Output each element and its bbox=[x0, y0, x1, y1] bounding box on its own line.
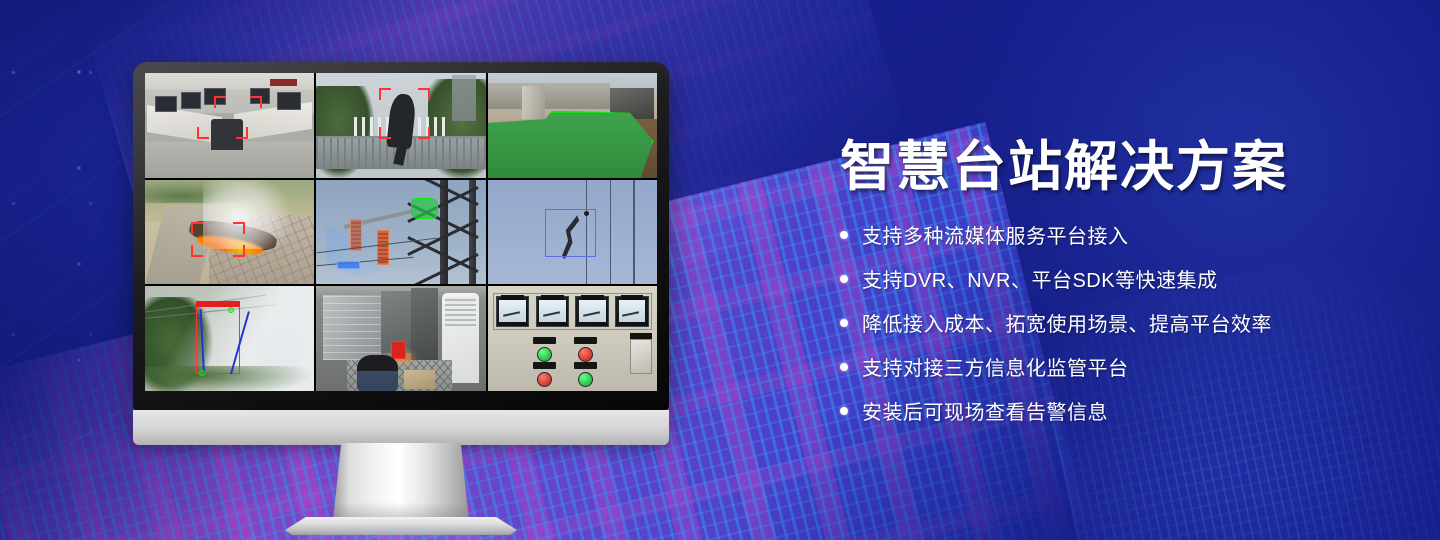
panel-gauge-face bbox=[499, 300, 526, 322]
panel-indicator-1 bbox=[533, 337, 556, 362]
fence-building bbox=[452, 75, 476, 121]
video-cell-person-climbing-fence bbox=[316, 73, 485, 178]
video-cell-equipment-room bbox=[316, 286, 485, 391]
fire-smoke bbox=[203, 180, 291, 249]
room-ac-vent bbox=[445, 297, 475, 326]
detection-bracket-icon bbox=[233, 245, 245, 257]
feature-item: 安装后可现场查看告警信息 bbox=[840, 396, 1400, 425]
feature-item: 支持对接三方信息化监管平台 bbox=[840, 352, 1400, 381]
detection-bracket-icon bbox=[214, 96, 226, 108]
panel-indicator-lamp-red bbox=[537, 372, 552, 387]
banner-content: 智慧台站解决方案 支持多种流媒体服务平台接入 支持DVR、NVR、平台SDK等快… bbox=[840, 136, 1400, 440]
pole-detection-label bbox=[196, 301, 240, 307]
bullet-dot-icon bbox=[840, 319, 848, 327]
office-monitor-2 bbox=[181, 92, 201, 109]
detection-bracket-icon bbox=[418, 88, 430, 100]
panel-gauge-2 bbox=[536, 296, 570, 328]
detection-bracket-icon bbox=[197, 127, 209, 139]
monitor-chin bbox=[133, 410, 669, 445]
bullet-dot-icon bbox=[840, 231, 848, 239]
video-cell-straw-fire bbox=[145, 180, 314, 285]
video-wall-grid bbox=[145, 73, 657, 391]
video-cell-utility-pole-detect bbox=[145, 286, 314, 391]
detection-bracket-icon bbox=[379, 88, 391, 100]
monitor-screen bbox=[145, 73, 657, 391]
panel-indicator-lamp-green bbox=[578, 372, 593, 387]
panel-gauge-face bbox=[539, 300, 566, 322]
tower-light-beam bbox=[326, 226, 417, 278]
feature-item: 支持DVR、NVR、平台SDK等快速集成 bbox=[840, 264, 1400, 293]
object-detection-box bbox=[545, 209, 596, 257]
zone-pillar bbox=[522, 86, 546, 119]
panel-indicator-3 bbox=[533, 362, 556, 387]
detection-bracket-icon bbox=[191, 222, 203, 234]
panel-gauge-needle bbox=[503, 312, 520, 317]
panel-indicator-label bbox=[574, 337, 597, 344]
bullet-dot-icon bbox=[840, 275, 848, 283]
room-person bbox=[357, 355, 398, 391]
zone-wall bbox=[488, 83, 610, 108]
video-cell-control-panel bbox=[488, 286, 657, 391]
bullet-dot-icon bbox=[840, 363, 848, 371]
bullet-dot-icon bbox=[840, 407, 848, 415]
panel-gauge-label bbox=[541, 295, 564, 300]
zone-green-mask-overlay bbox=[488, 111, 654, 178]
panel-indicator-lamp-green bbox=[537, 347, 552, 362]
panel-gauge-3 bbox=[575, 296, 609, 328]
banner-root: 智慧台站解决方案 支持多种流媒体服务平台接入 支持DVR、NVR、平台SDK等快… bbox=[0, 0, 1440, 540]
detection-bracket-icon bbox=[379, 127, 391, 139]
detection-bracket-icon bbox=[418, 127, 430, 139]
panel-gauge-face bbox=[619, 300, 646, 322]
panel-gauge-face bbox=[579, 300, 606, 322]
panel-indicator-2 bbox=[574, 337, 597, 362]
panel-gauge-1 bbox=[496, 296, 530, 328]
detection-bracket-icon bbox=[233, 222, 245, 234]
feature-item: 降低接入成本、拓宽使用场景、提高平台效率 bbox=[840, 308, 1400, 337]
feature-item-label: 降低接入成本、拓宽使用场景、提高平台效率 bbox=[862, 308, 1272, 337]
panel-wall-phone bbox=[630, 339, 652, 375]
monitor-bezel bbox=[133, 62, 669, 410]
room-carton bbox=[404, 370, 434, 389]
panel-indicator-label bbox=[574, 362, 597, 369]
room-rack-left bbox=[323, 295, 381, 360]
panel-indicator-label bbox=[533, 337, 556, 344]
detection-bracket-icon bbox=[250, 96, 262, 108]
panel-gauge-label bbox=[501, 295, 524, 300]
video-cell-power-line-object bbox=[488, 180, 657, 285]
tower-blue-tag-overlay bbox=[337, 261, 361, 268]
panel-gauge-needle bbox=[543, 312, 560, 317]
video-cell-green-zone-mask bbox=[488, 73, 657, 178]
monitor-illustration bbox=[133, 62, 669, 412]
office-red-banner bbox=[270, 79, 297, 85]
panel-indicator-lamp-red bbox=[578, 347, 593, 362]
panel-gauge-label bbox=[581, 295, 604, 300]
panel-indicator-label bbox=[533, 362, 556, 369]
detection-bracket-icon bbox=[191, 245, 203, 257]
video-cell-transmission-tower bbox=[316, 180, 485, 285]
panel-gauge-label bbox=[621, 295, 644, 300]
feature-item-label: 支持DVR、NVR、平台SDK等快速集成 bbox=[862, 264, 1218, 293]
room-fire-detection-box bbox=[391, 341, 406, 359]
panel-gauge-needle bbox=[622, 312, 639, 317]
video-cell-office-control-room bbox=[145, 73, 314, 178]
banner-title: 智慧台站解决方案 bbox=[840, 136, 1400, 198]
office-monitor-5 bbox=[277, 92, 301, 110]
panel-indicator-area bbox=[532, 337, 613, 385]
feature-item-label: 支持多种流媒体服务平台接入 bbox=[862, 220, 1129, 249]
panel-indicator-4 bbox=[574, 362, 597, 387]
power-line-3 bbox=[633, 180, 635, 285]
panel-gauge-needle bbox=[583, 312, 600, 317]
feature-item-label: 支持对接三方信息化监管平台 bbox=[862, 352, 1129, 381]
panel-gauge-4 bbox=[615, 296, 649, 328]
feature-list: 支持多种流媒体服务平台接入 支持DVR、NVR、平台SDK等快速集成 降低接入成… bbox=[840, 220, 1400, 425]
office-monitor-1 bbox=[155, 96, 177, 112]
feature-item: 支持多种流媒体服务平台接入 bbox=[840, 220, 1400, 249]
tower-nest-detection-overlay bbox=[411, 198, 438, 219]
detection-bracket-icon bbox=[236, 127, 248, 139]
power-line-2 bbox=[610, 180, 612, 285]
monitor-base-glow bbox=[273, 530, 529, 540]
panel-gauge-region-overlay bbox=[493, 293, 652, 331]
feature-item-label: 安装后可现场查看告警信息 bbox=[862, 396, 1108, 425]
